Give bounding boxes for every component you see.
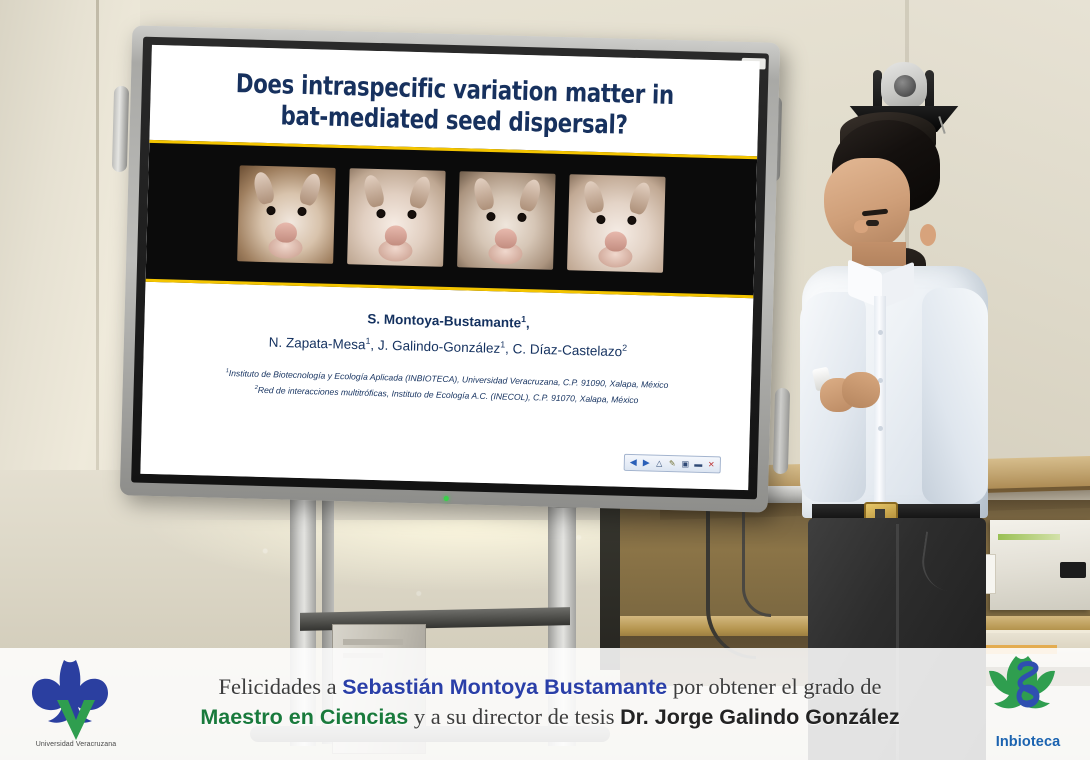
coauthor-name: C. Díaz-Castelazo [512,341,622,359]
bat-noseleaf-icon [605,232,628,253]
congratulations-banner: Universidad Veracruzana Felicidades a Se… [0,648,1090,760]
bat-ear-left-icon [361,174,385,209]
bat-ear-right-icon [298,172,324,208]
shirt-button-3 [878,426,883,431]
author-coauthors: N. Zapata-Mesa1, J. Galindo-González1, C… [170,330,726,362]
bat-ear-right-icon [628,181,654,217]
bat-eye-right-icon [627,216,636,225]
slide-title: Does intraspecific variation matter in b… [204,46,705,149]
presenter-face [824,158,910,250]
bat-ear-left-icon [581,180,605,215]
bat-photo-1 [237,166,336,265]
bat-ear-right-icon [408,175,434,211]
pen-icon[interactable]: ✎ [667,458,678,469]
screenshot-root: Sharp Does intraspecific variation matte… [0,0,1090,760]
bat-noseleaf-icon [495,229,518,250]
bat-noseleaf-icon [385,226,408,247]
bat-ear-left-icon [471,177,495,212]
shirt-button-1 [878,330,883,335]
close-icon[interactable]: ✕ [706,459,717,470]
presenter-hand-right [842,372,880,408]
presenter-ear [920,224,936,246]
prev-slide-icon[interactable]: ◀ [628,457,639,468]
slide-image-band [146,140,758,298]
presentation-slide: Does intraspecific variation matter in b… [140,45,759,490]
uv-logo-caption: Universidad Veracruzana [26,741,126,748]
presenter [790,120,1000,680]
camera-lens-icon [894,75,916,97]
bat-eye-left-icon [376,209,385,218]
banner-line-1: Felicidades a Sebastián Montoya Bustaman… [219,674,882,700]
slide-affiliations: 1Instituto de Biotecnología y Ecología A… [142,364,751,412]
author-primary-tail: , [526,316,530,331]
bat-photo-3 [457,172,556,271]
banner-advisor-name: Dr. Jorge Galindo González [620,705,900,729]
room-photo: Sharp Does intraspecific variation matte… [0,0,1090,760]
bat-noseleaf-icon [275,223,298,244]
bat-photo-4 [567,175,666,274]
banner-degree: Maestro en Ciencias [200,705,408,729]
display-screen: Does intraspecific variation matter in b… [140,45,759,490]
bat-eye-left-icon [486,212,495,221]
dash-icon[interactable]: ▬ [693,459,704,470]
next-slide-icon[interactable]: ▶ [641,457,652,468]
bat-ear-left-icon [251,171,275,206]
banner-message: Felicidades a Sebastián Montoya Bustaman… [122,652,978,752]
bat-eye-right-icon [407,210,416,219]
inbioteca-logo-caption: Inbioteca [976,734,1080,750]
author-primary-name: S. Montoya-Bustamante [367,312,521,331]
coauthor-sup: 2 [622,343,627,353]
presenter-arm-right [922,288,988,504]
coauthor-name: N. Zapata-Mesa [269,334,366,352]
lab-instrument-box [990,520,1090,610]
display-power-led-icon [444,496,449,501]
presenter-eye [866,220,879,226]
bat-eye-left-icon [596,215,605,224]
screen-handle-top-left [112,86,129,172]
bat-eye-left-icon [266,206,275,215]
banner-line1-post: por obtener el grado de [667,674,881,699]
screen-handle-bottom-right [773,388,790,474]
wall-display: Sharp Does intraspecific variation matte… [120,25,780,512]
pointer-icon[interactable]: △ [654,458,665,469]
coauthor-name: J. Galindo-González [378,337,501,355]
bat-ear-right-icon [518,178,544,214]
banner-line1-pre: Felicidades a [219,674,343,699]
presenter-shirt-placket [874,296,886,512]
universidad-veracruzana-logo: Universidad Veracruzana [26,654,126,750]
presenter-eyebrow [862,209,888,217]
inbioteca-logo: Inbioteca [976,652,1080,752]
banner-graduate-name: Sebastián Montoya Bustamante [342,675,667,699]
cable-2 [742,494,771,617]
banner-line2-mid: y a su director de tesis [408,704,620,729]
bat-eye-right-icon [517,213,526,222]
presenter-toolbar[interactable]: ◀ ▶ △ ✎ ▣ ▬ ✕ [624,454,721,474]
bat-photo-2 [347,169,446,268]
banner-line-2: Maestro en Ciencias y a su director de t… [200,704,899,730]
slide-menu-icon[interactable]: ▣ [680,458,691,469]
bat-eye-right-icon [297,207,306,216]
